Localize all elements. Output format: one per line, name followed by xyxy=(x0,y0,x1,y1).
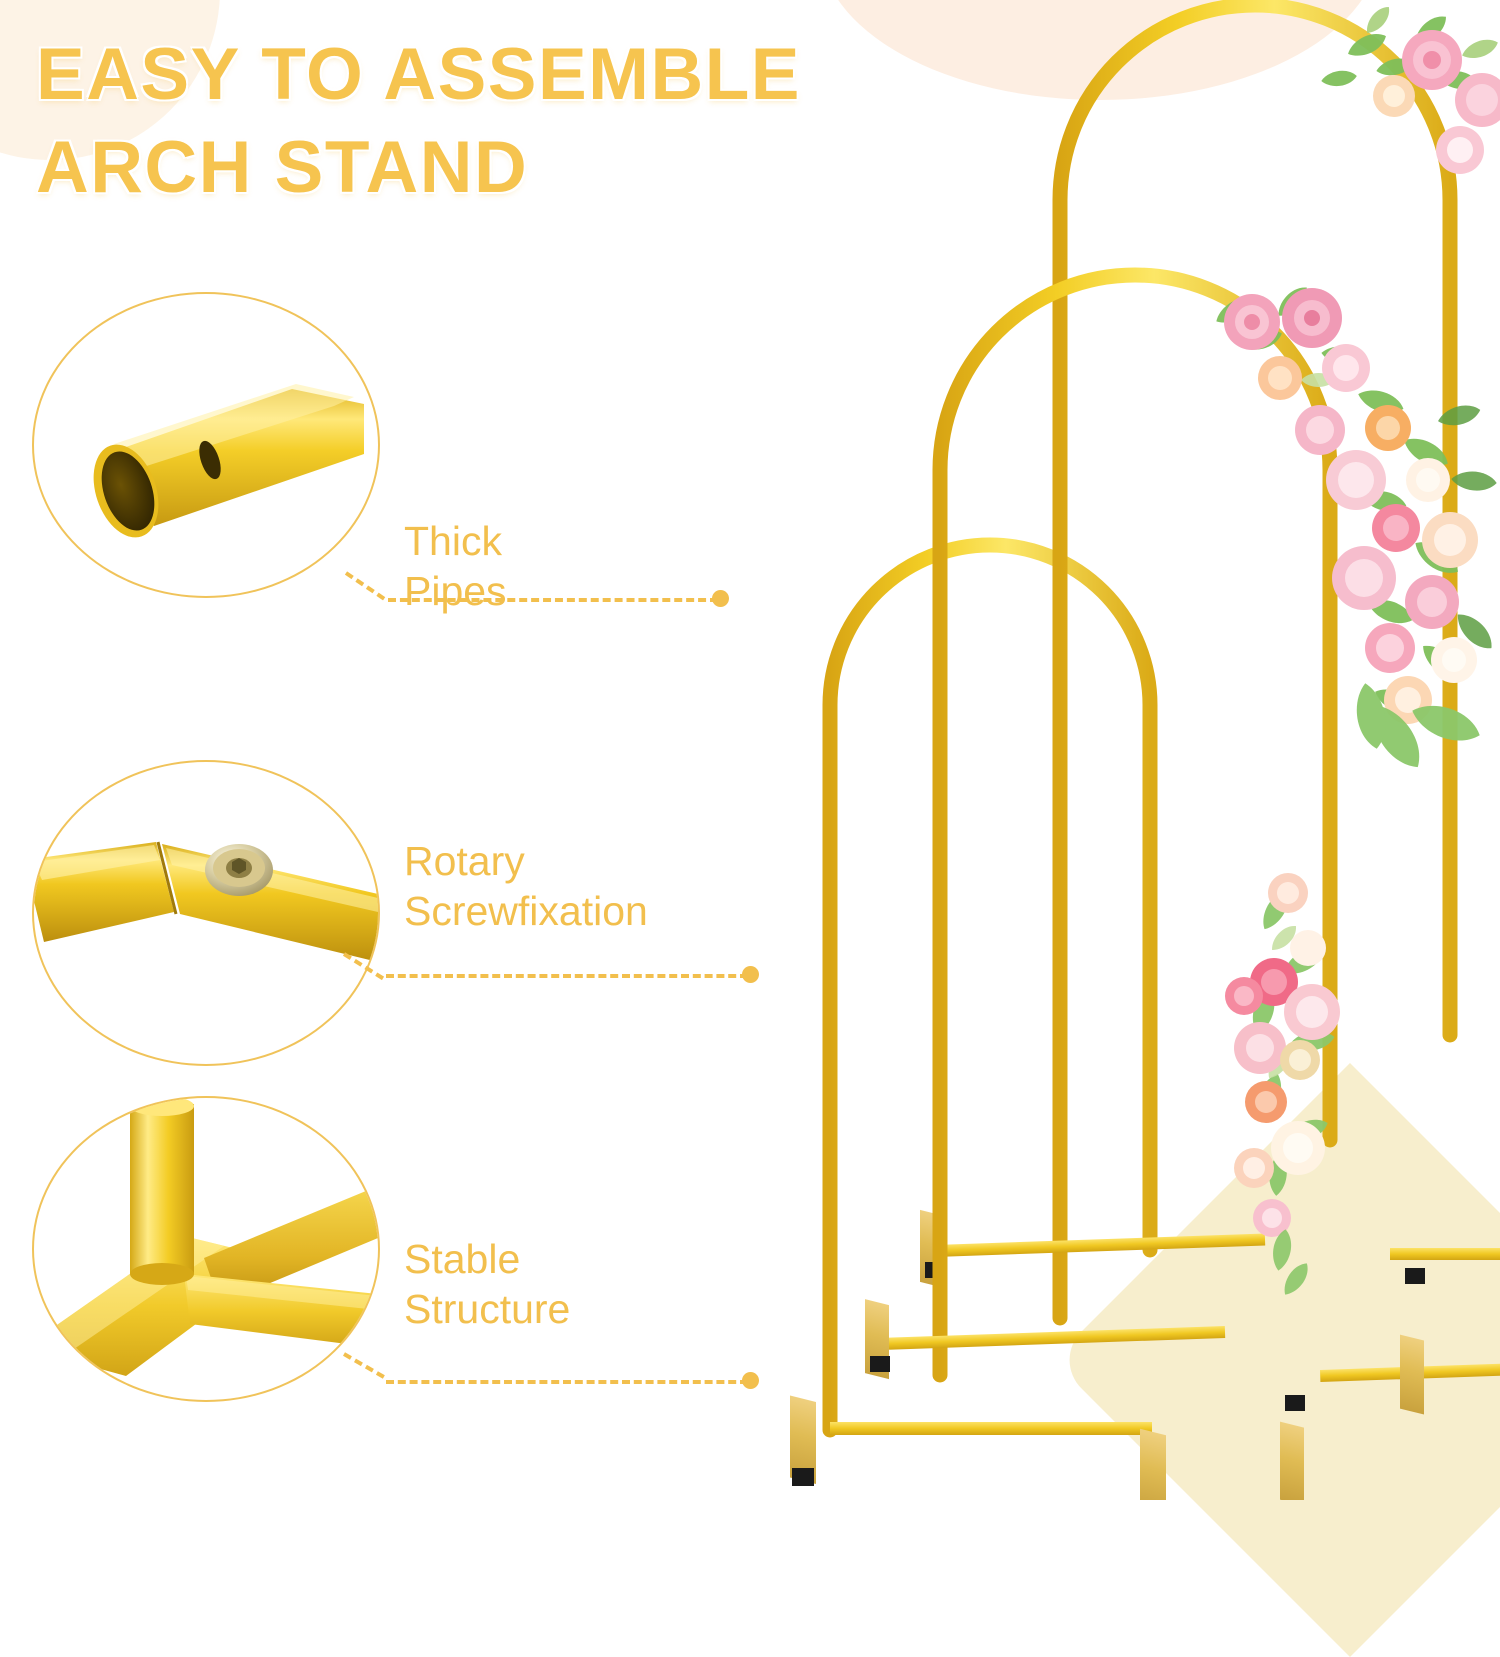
feature-dash-line-thick-pipes xyxy=(388,598,718,602)
arch-stands-svg xyxy=(760,0,1500,1500)
feature-circle-thick-pipes xyxy=(32,292,380,598)
feature-dash-dot-rotary-screwfixation xyxy=(742,966,759,983)
feature-dash-line-rotary-screwfixation xyxy=(386,974,748,978)
feature-dash-dot-stable-structure xyxy=(742,1372,759,1389)
arch-small xyxy=(790,545,1166,1500)
feature-dash-elbow-thick-pipes xyxy=(345,571,385,600)
feature-label-rotary-screwfixation: Rotary Screwfixation xyxy=(404,836,648,936)
feature-circle-rotary-screwfixation xyxy=(32,760,380,1066)
page-title: EASY TO ASSEMBLE ARCH STAND xyxy=(36,28,801,215)
product-illustration xyxy=(760,0,1500,1500)
pipe-tee-base-icon xyxy=(34,1098,378,1400)
feature-dash-dot-thick-pipes xyxy=(712,590,729,607)
feature-dash-line-stable-structure xyxy=(386,1380,748,1384)
pipe-joint-screw-icon xyxy=(34,762,378,1064)
arch-right-feet xyxy=(1280,1248,1500,1500)
feature-circle-stable-structure xyxy=(32,1096,380,1402)
feature-dash-elbow-stable-structure xyxy=(343,1352,385,1378)
feature-label-stable-structure: Stable Structure xyxy=(404,1234,570,1334)
pipe-tube-icon xyxy=(34,294,378,596)
